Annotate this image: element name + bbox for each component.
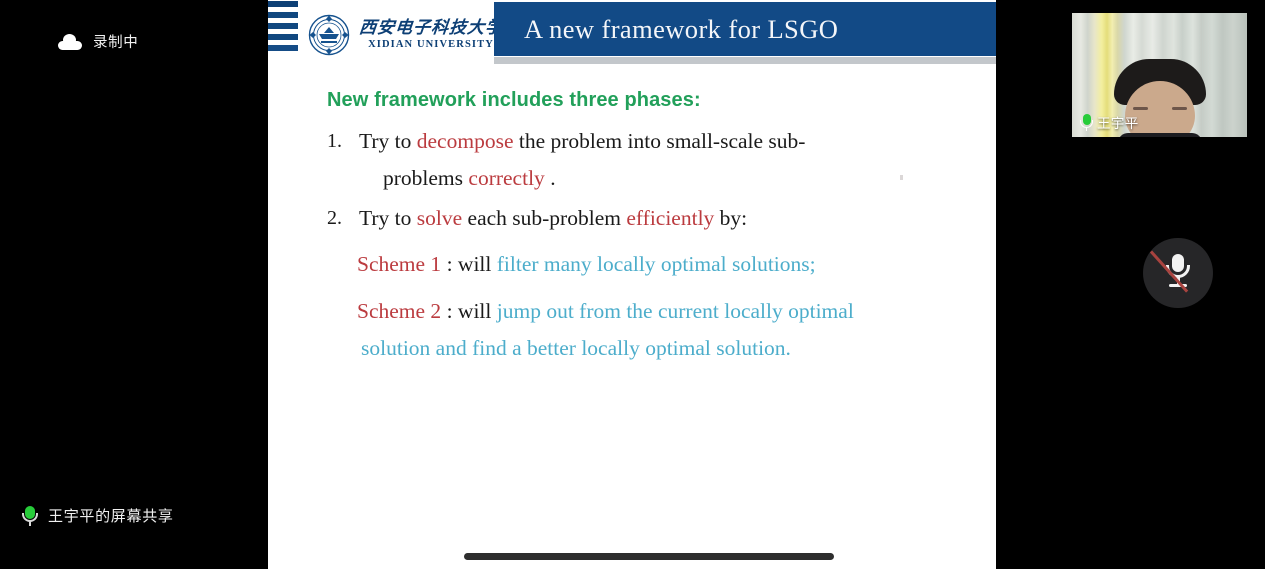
text-run: the problem into small-scale sub- [519,129,806,153]
slide-body: New framework includes three phases: 1. … [268,64,996,359]
scheme-mid: will [458,299,497,323]
horizontal-scrollbar[interactable] [464,553,834,560]
scheme-highlight-continued: solution and find a better locally optim… [361,338,996,360]
participant-name-badge: 王宇平 [1080,112,1139,132]
recording-indicator: 录制中 [58,31,138,52]
decorative-stripes [268,1,298,57]
scheme-label: Scheme 2 [357,299,441,323]
text-run-highlight: decompose [417,129,514,153]
scheme-separator: : [447,299,458,323]
scheme-separator: : [447,252,458,276]
slide-title: A new framework for LSGO [524,14,838,45]
list-line-1: Try to decompose the problem into small-… [359,131,996,153]
participant-name: 王宇平 [1097,112,1139,132]
shared-slide[interactable]: 西安电子科技大学 XIDIAN UNIVERSITY A new framewo… [268,0,996,569]
screen-share-label: 王宇平的屏幕共享 [48,505,174,526]
text-run: by: [720,206,747,230]
text-run: . [550,166,555,190]
university-seal-icon [308,14,350,56]
logo-name-cn: 西安电子科技大学 [358,20,504,38]
scheme-highlight: filter many locally optimal solutions; [497,252,816,276]
cloud-icon [58,34,82,50]
screen-share-indicator: 王宇平的屏幕共享 [22,505,174,526]
slide-title-bar: A new framework for LSGO [494,2,996,56]
text-run: problems [383,166,468,190]
text-run: Try to [359,129,417,153]
webcam-tile[interactable]: 王宇平 [1072,13,1247,137]
logo-name-en: XIDIAN UNIVERSITY [368,39,494,50]
scrollbar-thumb[interactable] [464,553,834,560]
text-run: Try to [359,206,417,230]
text-run: each sub-problem [468,206,627,230]
list-line-1: Try to solve each sub-problem efficientl… [359,208,996,230]
microphone-icon [1080,114,1093,131]
text-run-highlight: solve [417,206,462,230]
list-item: 1. Try to decompose the problem into sma… [327,131,996,189]
text-run-highlight: efficiently [626,206,714,230]
mute-toggle-button[interactable] [1143,238,1213,308]
list-number: 1. [327,131,351,151]
scheme-1: Scheme 1 : will filter many locally opti… [357,254,996,276]
scheme-2: Scheme 2 : will jump out from the curren… [357,301,996,359]
recording-label: 录制中 [93,31,138,52]
scheme-highlight: jump out from the current locally optima… [497,299,854,323]
numbered-list: 1. Try to decompose the problem into sma… [268,131,996,230]
list-line-2: problems correctly . [383,168,996,190]
scheme-mid: will [458,252,497,276]
meeting-window: 录制中 王宇平的屏幕共享 [0,0,1265,569]
slide-heading: New framework includes three phases: [327,89,996,112]
list-number: 2. [327,208,351,228]
scheme-label: Scheme 1 [357,252,441,276]
slide-artifact [900,175,903,180]
microphone-icon [22,506,38,526]
title-underline [494,57,996,64]
university-logo: 西安电子科技大学 XIDIAN UNIVERSITY [308,14,503,56]
text-run-highlight: correctly [468,166,544,190]
list-item: 2. Try to solve each sub-problem efficie… [327,208,996,230]
